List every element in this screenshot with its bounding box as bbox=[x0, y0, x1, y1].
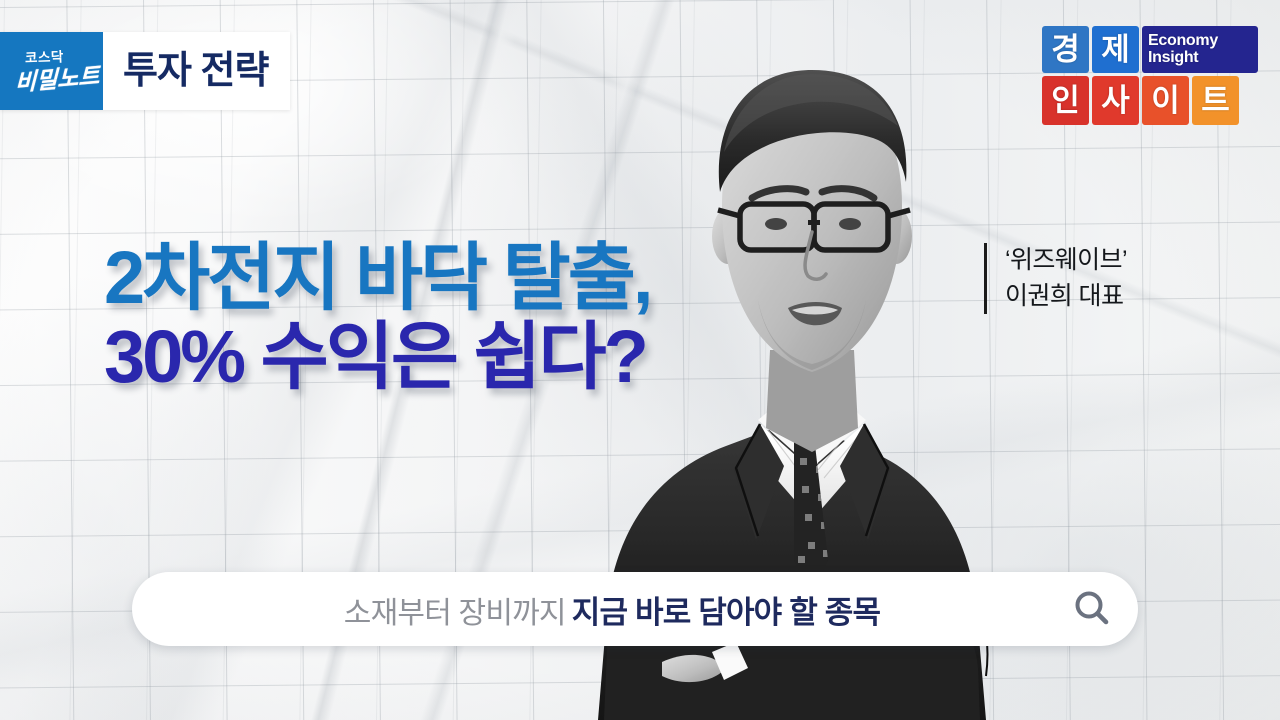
wordmark-economy: Economy bbox=[1148, 33, 1252, 49]
program-kicker: 코스닥 bbox=[25, 50, 64, 65]
program-title-plate: 투자 전략 bbox=[103, 32, 290, 110]
search-bar-text: 소재부터 장비까지지금 바로 담아야 할 종목 bbox=[132, 587, 1046, 632]
thumbnail-canvas: 코스닥 비밀노트 투자 전략 경 제 Economy Insight 인 사 이… bbox=[0, 0, 1280, 720]
logo-wordmark: Economy Insight bbox=[1142, 26, 1258, 73]
program-script-name: 비밀노트 bbox=[15, 64, 100, 95]
logo-tile-i: 이 bbox=[1142, 76, 1189, 125]
logo-tile-je: 제 bbox=[1092, 26, 1139, 73]
logo-tile-in: 인 bbox=[1042, 76, 1089, 125]
logo-tile-sa: 사 bbox=[1092, 76, 1139, 125]
guest-caption: ‘위즈웨이브’ 이권희 대표 bbox=[984, 243, 1127, 314]
guest-company: ‘위즈웨이브’ bbox=[1005, 243, 1127, 279]
headline-line-1: 2차전지 바닥 탈출, bbox=[104, 242, 650, 315]
search-prefix: 소재부터 장비까지 bbox=[344, 597, 566, 630]
program-badge: 코스닥 비밀노트 투자 전략 bbox=[0, 32, 290, 110]
logo-row-bottom: 인 사 이 트 bbox=[1042, 76, 1258, 125]
search-icon[interactable] bbox=[1046, 587, 1138, 631]
economy-insight-logo: 경 제 Economy Insight 인 사 이 트 bbox=[1042, 26, 1258, 128]
program-logo-tile: 코스닥 비밀노트 bbox=[0, 32, 103, 110]
logo-row-top: 경 제 Economy Insight bbox=[1042, 26, 1258, 73]
headline-block: 2차전지 바닥 탈출, 30% 수익은 쉽다? bbox=[104, 242, 650, 393]
logo-tile-gyeong: 경 bbox=[1042, 26, 1089, 73]
program-title: 투자 전략 bbox=[123, 52, 268, 90]
search-bar[interactable]: 소재부터 장비까지지금 바로 담아야 할 종목 bbox=[132, 572, 1138, 646]
search-emphasis: 지금 바로 담아야 할 종목 bbox=[572, 595, 880, 630]
guest-name-title: 이권희 대표 bbox=[1005, 279, 1127, 315]
logo-tile-teu: 트 bbox=[1192, 76, 1239, 125]
wordmark-insight: Insight bbox=[1148, 50, 1252, 66]
headline-line-2: 30% 수익은 쉽다? bbox=[104, 321, 650, 394]
